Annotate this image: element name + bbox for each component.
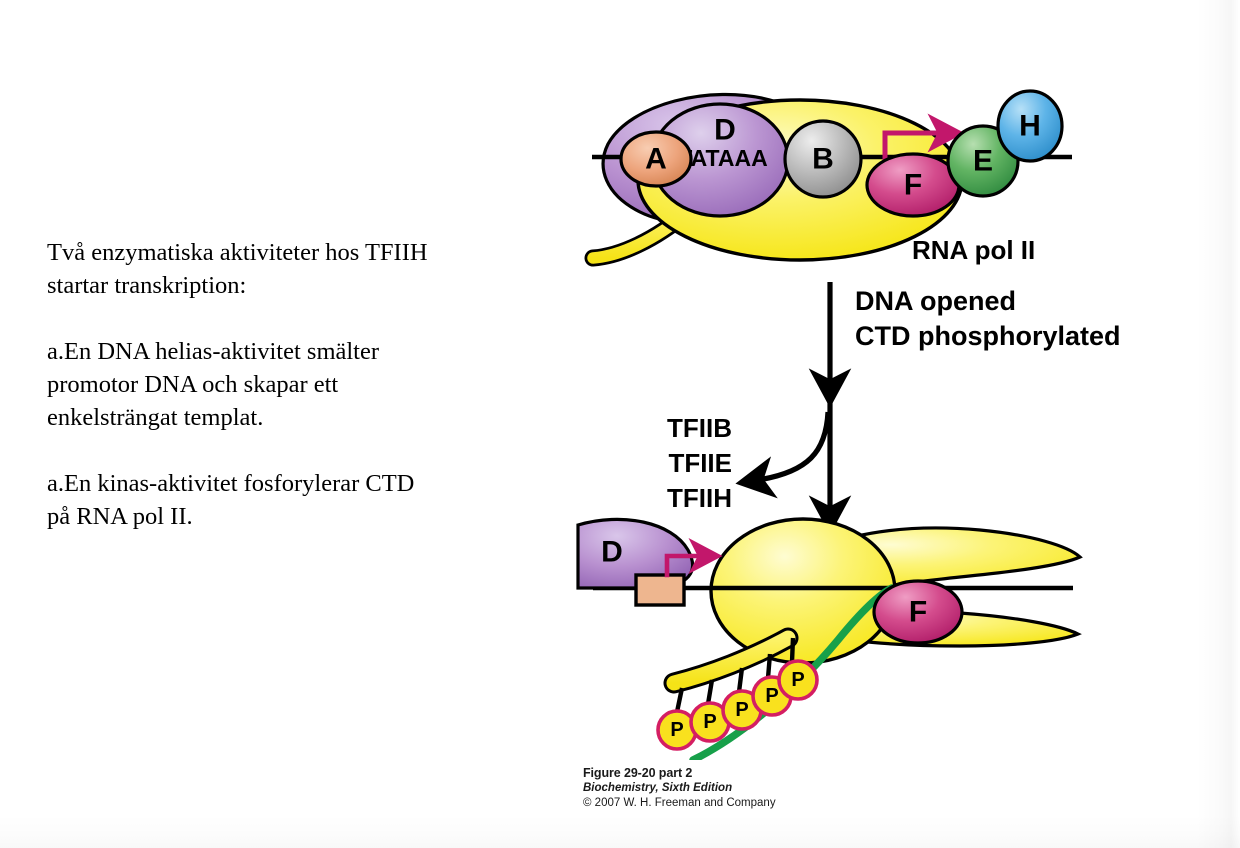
transition-group: DNA opened CTD phosphorylated TFIIB TFII… bbox=[667, 282, 1121, 513]
released-factor-tfiib: TFIIB bbox=[667, 413, 732, 443]
slide-body-text: Två enzymatiska aktiviteter hos TFIIH st… bbox=[47, 236, 517, 533]
subunit-H-label: H bbox=[1019, 110, 1041, 143]
phosphate-label: P bbox=[670, 719, 683, 741]
released-factor-tfiih: TFIIH bbox=[667, 483, 732, 513]
text-line-4: promotor DNA och skapar ett bbox=[47, 368, 517, 401]
subunit-D-label: D bbox=[714, 114, 736, 147]
subunit-B-label: B bbox=[812, 143, 834, 176]
paragraph-spacer bbox=[47, 434, 517, 467]
text-line-7: på RNA pol II. bbox=[47, 500, 517, 533]
figure-caption-source: Biochemistry, Sixth Edition bbox=[583, 781, 913, 796]
slide-canvas: Två enzymatiska aktiviteter hos TFIIH st… bbox=[0, 0, 1240, 848]
subunit-D-bottom-label: D bbox=[601, 536, 623, 569]
text-line-6: a.En kinas-aktivitet fosforylerar CTD bbox=[47, 467, 517, 500]
figure-caption: Figure 29-20 part 2 Biochemistry, Sixth … bbox=[583, 766, 913, 811]
phosphate-label: P bbox=[703, 711, 716, 733]
subunit-F-label: F bbox=[904, 169, 922, 202]
phosphate-label: P bbox=[791, 669, 804, 691]
phosphate-label: P bbox=[765, 685, 778, 707]
phosphate-label: P bbox=[735, 699, 748, 721]
text-line-5: enkelsträngat templat. bbox=[47, 401, 517, 434]
rna-polymerase-label: RNA pol II bbox=[912, 235, 1035, 265]
transcription-initiation-diagram: D TATAAA A B F E H RNA pol II bbox=[560, 60, 1200, 760]
polymerase-body-bottom bbox=[711, 519, 895, 663]
bottom-complex-group: D F P bbox=[578, 519, 1080, 760]
tata-box bbox=[636, 575, 684, 605]
figure-caption-copyright: © 2007 W. H. Freeman and Company bbox=[583, 796, 913, 811]
text-line-3: a.En DNA helias-aktivitet smälter bbox=[47, 335, 517, 368]
factor-release-arrow bbox=[758, 412, 828, 480]
subunit-A-label: A bbox=[645, 143, 667, 176]
transition-step-line-2: CTD phosphorylated bbox=[855, 321, 1121, 351]
top-complex-group: D TATAAA A B F E H RNA pol II bbox=[592, 91, 1072, 265]
text-line-2: startar transkription: bbox=[47, 269, 517, 302]
text-line-1: Två enzymatiska aktiviteter hos TFIIH bbox=[47, 236, 517, 269]
transition-step-line-1: DNA opened bbox=[855, 286, 1016, 316]
page-edge-shadow-bottom bbox=[0, 814, 1240, 848]
subunit-F-bottom-label: F bbox=[909, 596, 927, 629]
released-factor-tfiie: TFIIE bbox=[668, 448, 732, 478]
page-edge-shadow-right bbox=[1196, 0, 1240, 848]
figure-caption-title: Figure 29-20 part 2 bbox=[583, 766, 913, 781]
paragraph-spacer bbox=[47, 302, 517, 335]
subunit-E-label: E bbox=[973, 145, 993, 178]
